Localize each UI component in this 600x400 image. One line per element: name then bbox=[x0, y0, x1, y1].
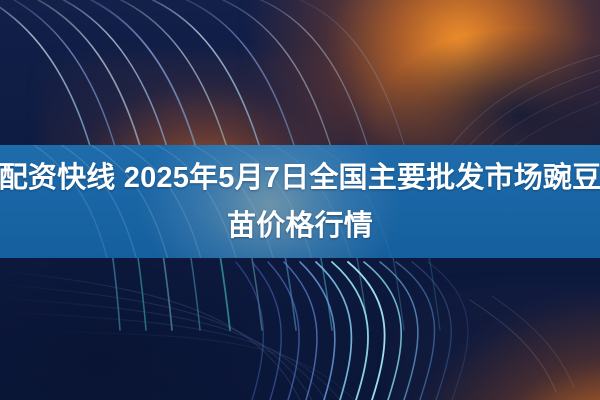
title-banner: 配资快线 2025年5月7日全国主要批发市场豌豆 苗价格行情 bbox=[0, 145, 600, 258]
page-title-line-1: 配资快线 2025年5月7日全国主要批发市场豌豆 bbox=[0, 154, 600, 202]
page-title-line-2: 苗价格行情 bbox=[227, 202, 373, 250]
page-title: 配资快线 2025年5月7日全国主要批发市场豌豆 苗价格行情 bbox=[0, 145, 600, 258]
news-banner-image: 配资快线 2025年5月7日全国主要批发市场豌豆 苗价格行情 bbox=[0, 0, 600, 400]
